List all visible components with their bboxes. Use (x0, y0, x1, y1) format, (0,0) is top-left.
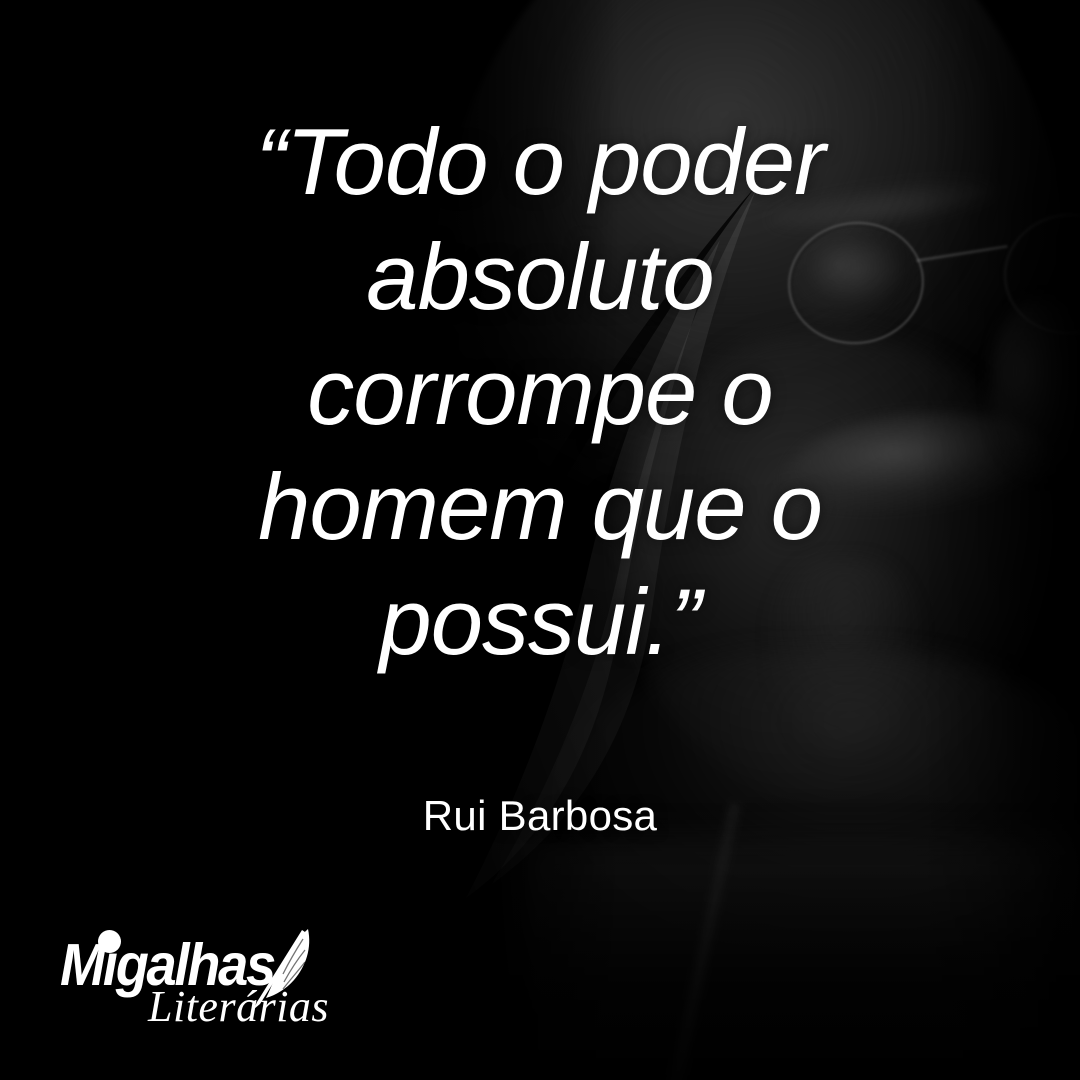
quote-card: “Todo o poder absoluto corrompe o homem … (0, 0, 1080, 1080)
quote-text: “Todo o poder absoluto corrompe o homem … (0, 104, 1080, 679)
brand-logo[interactable]: Migalhas Literárias (60, 928, 360, 1028)
quote-author: Rui Barbosa (0, 790, 1080, 842)
brand-logo-i-dot (98, 930, 121, 953)
brand-logo-row: Migalhas Literárias (60, 928, 360, 1028)
brand-logo-subtitle: Literárias (148, 984, 329, 1030)
